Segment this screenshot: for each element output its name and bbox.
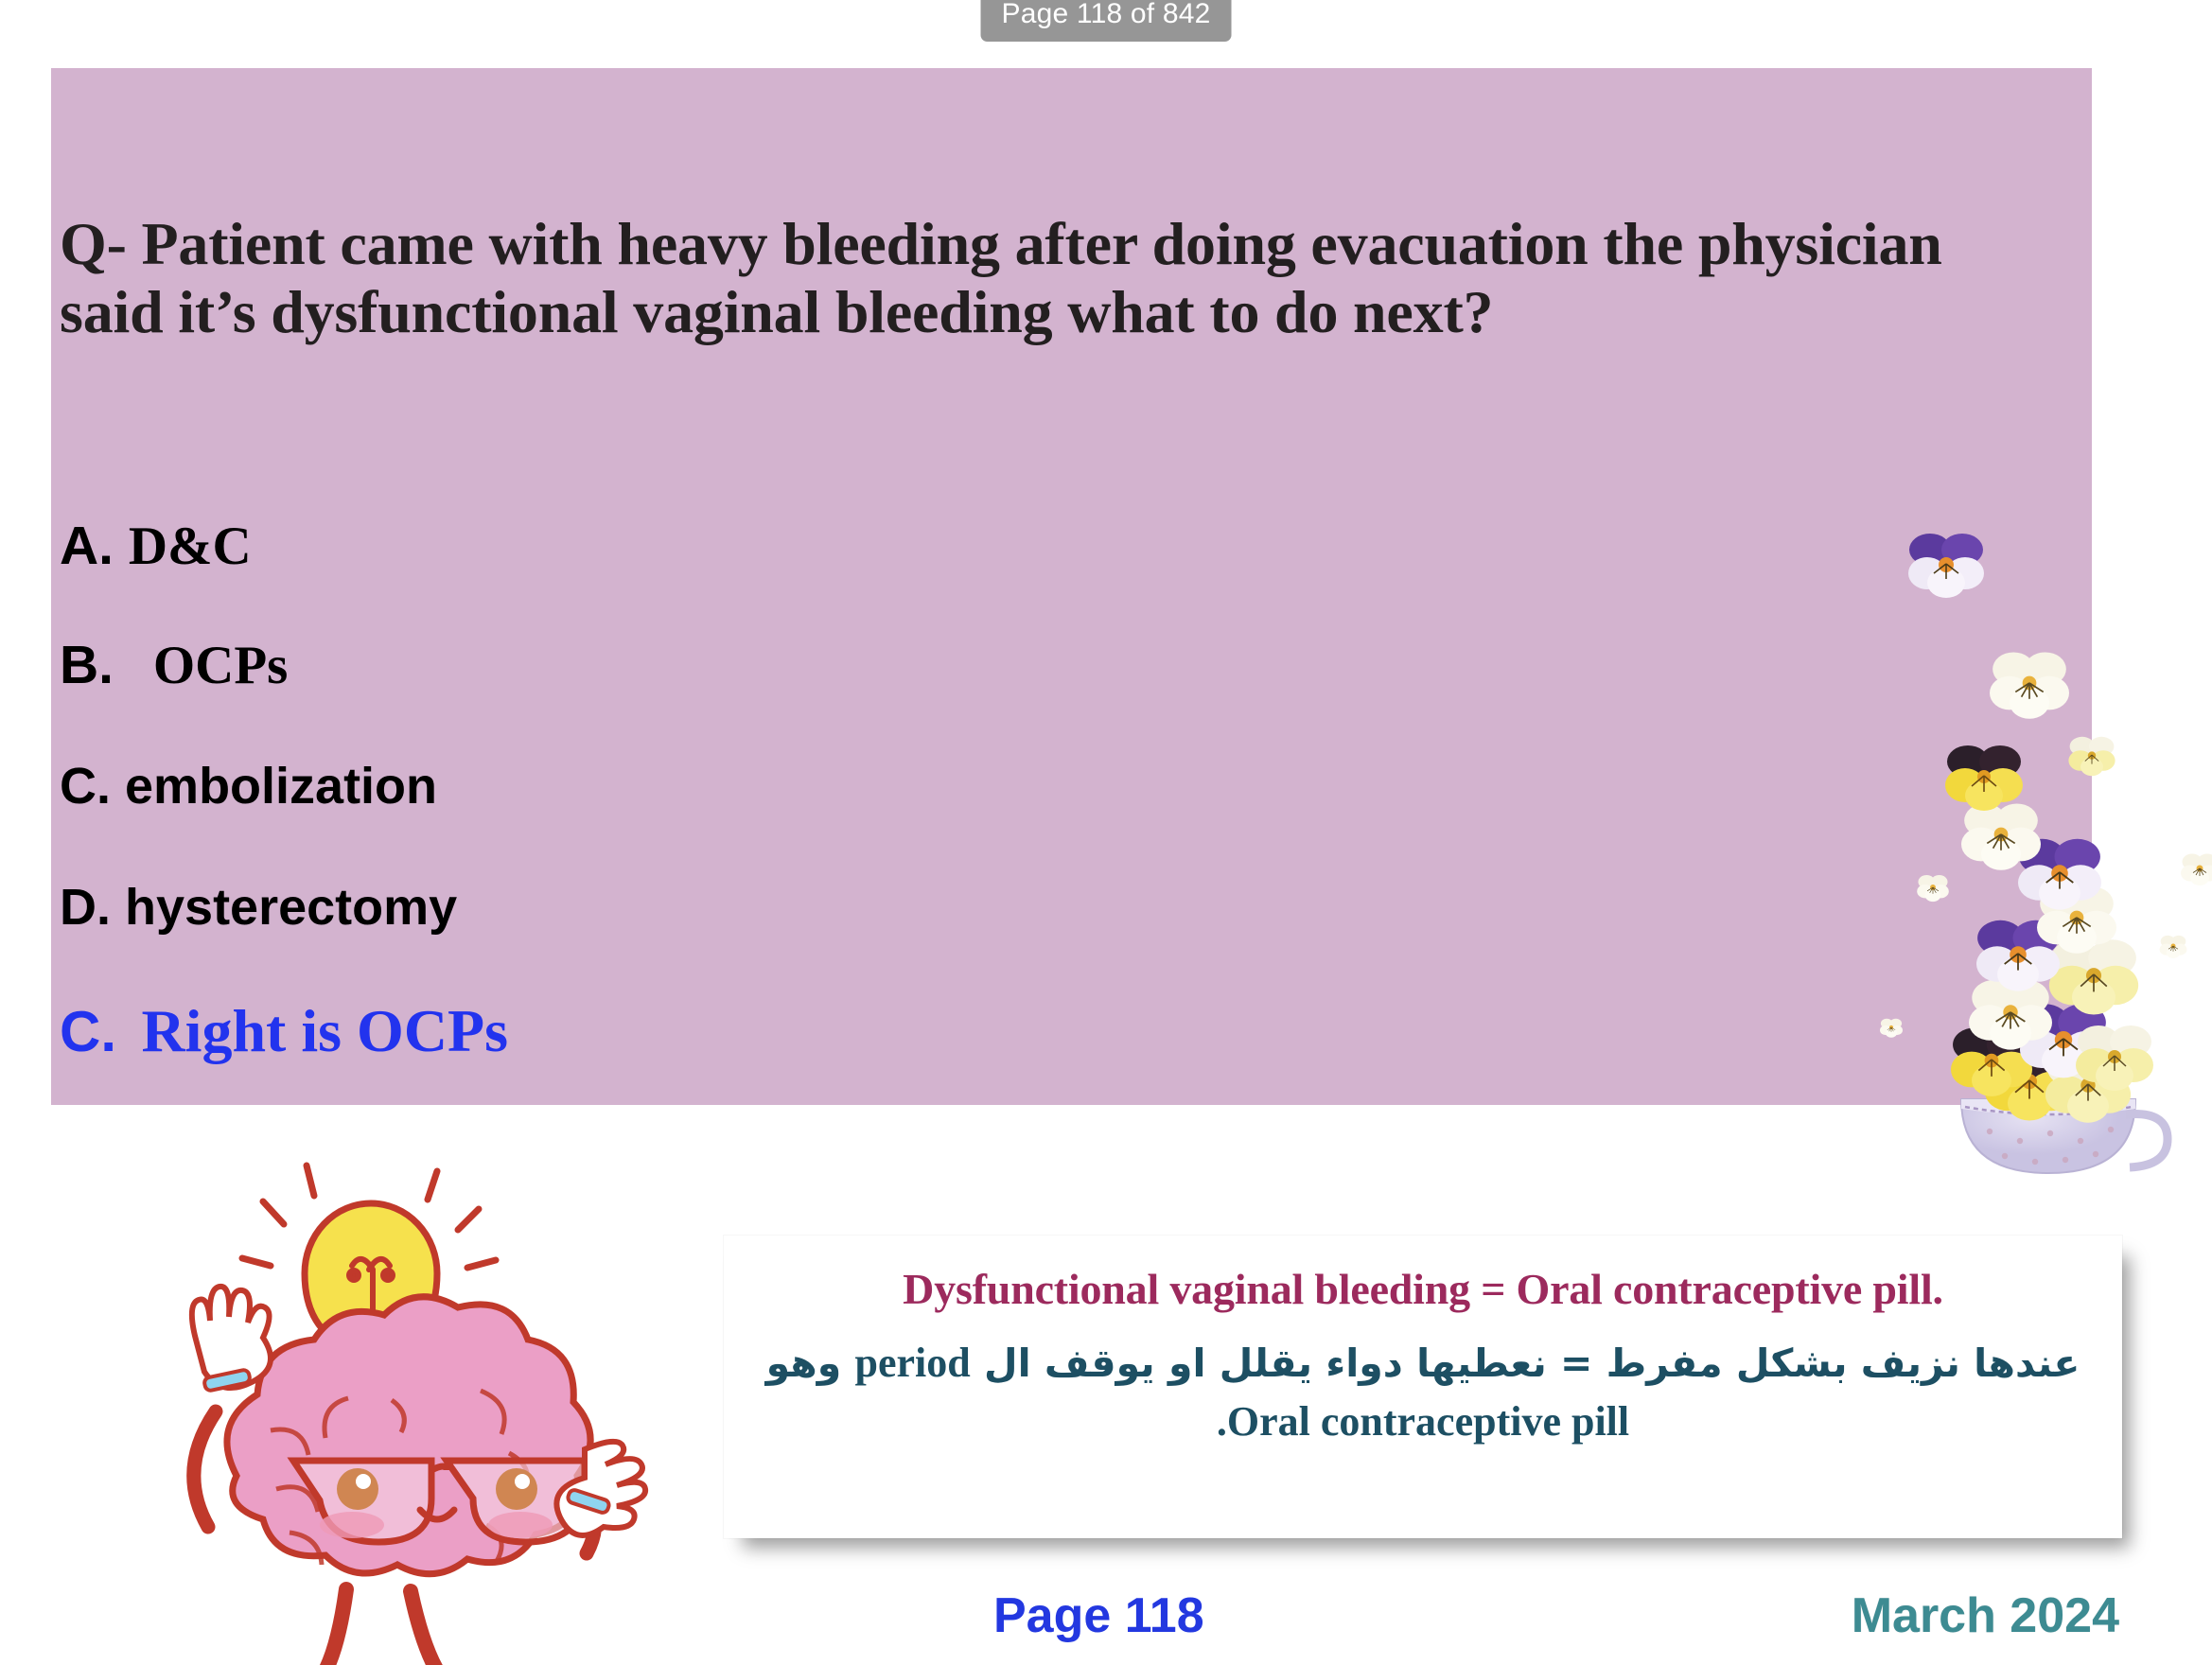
option-b-text: OCPs — [153, 636, 289, 695]
option-a-letter: A. — [60, 516, 114, 576]
option-d-text: hysterectomy — [125, 879, 457, 936]
slide-viewer: Page 118 of 842 Q- Patient came with hea… — [0, 0, 2212, 1665]
question-text: Q- Patient came with heavy bleeding afte… — [60, 210, 2056, 347]
option-a: A. D&C — [60, 515, 252, 577]
explanation-arabic: عندها نزيف بشكل مفرط = نعطيها دواء يقلل … — [724, 1334, 2122, 1452]
explanation-arabic-before: عندها نزيف بشكل مفرط = نعطيها دواء يقلل … — [984, 1341, 2080, 1386]
option-c-text: embolization — [125, 758, 437, 815]
option-d: D. hysterectomy — [60, 878, 457, 937]
option-b: B. OCPs — [60, 634, 288, 696]
footer-page-number: Page 118 — [993, 1587, 1204, 1644]
brain-mascot-icon — [104, 1097, 672, 1665]
correct-answer: C. Right is OCPs — [60, 996, 508, 1066]
option-d-letter: D. — [60, 879, 111, 936]
explanation-english: Dysfunctional vaginal bleeding = Oral co… — [724, 1262, 2122, 1317]
footer-date: March 2024 — [1852, 1587, 2119, 1644]
option-c: C. embolization — [60, 757, 437, 815]
option-a-text: D&C — [129, 517, 252, 576]
option-b-letter: B. — [60, 635, 114, 695]
answer-letter: C. — [60, 1000, 116, 1063]
explanation-latin-ocp: .Oral contraceptive pill — [1217, 1398, 1629, 1445]
option-c-letter: C. — [60, 758, 111, 815]
page-indicator-badge: Page 118 of 842 — [981, 0, 1232, 42]
explanation-card: Dysfunctional vaginal bleeding = Oral co… — [724, 1236, 2122, 1538]
answer-text: Right is OCPs — [141, 997, 508, 1064]
explanation-latin-period: period — [855, 1340, 971, 1386]
explanation-arabic-after: وهو — [766, 1341, 842, 1386]
